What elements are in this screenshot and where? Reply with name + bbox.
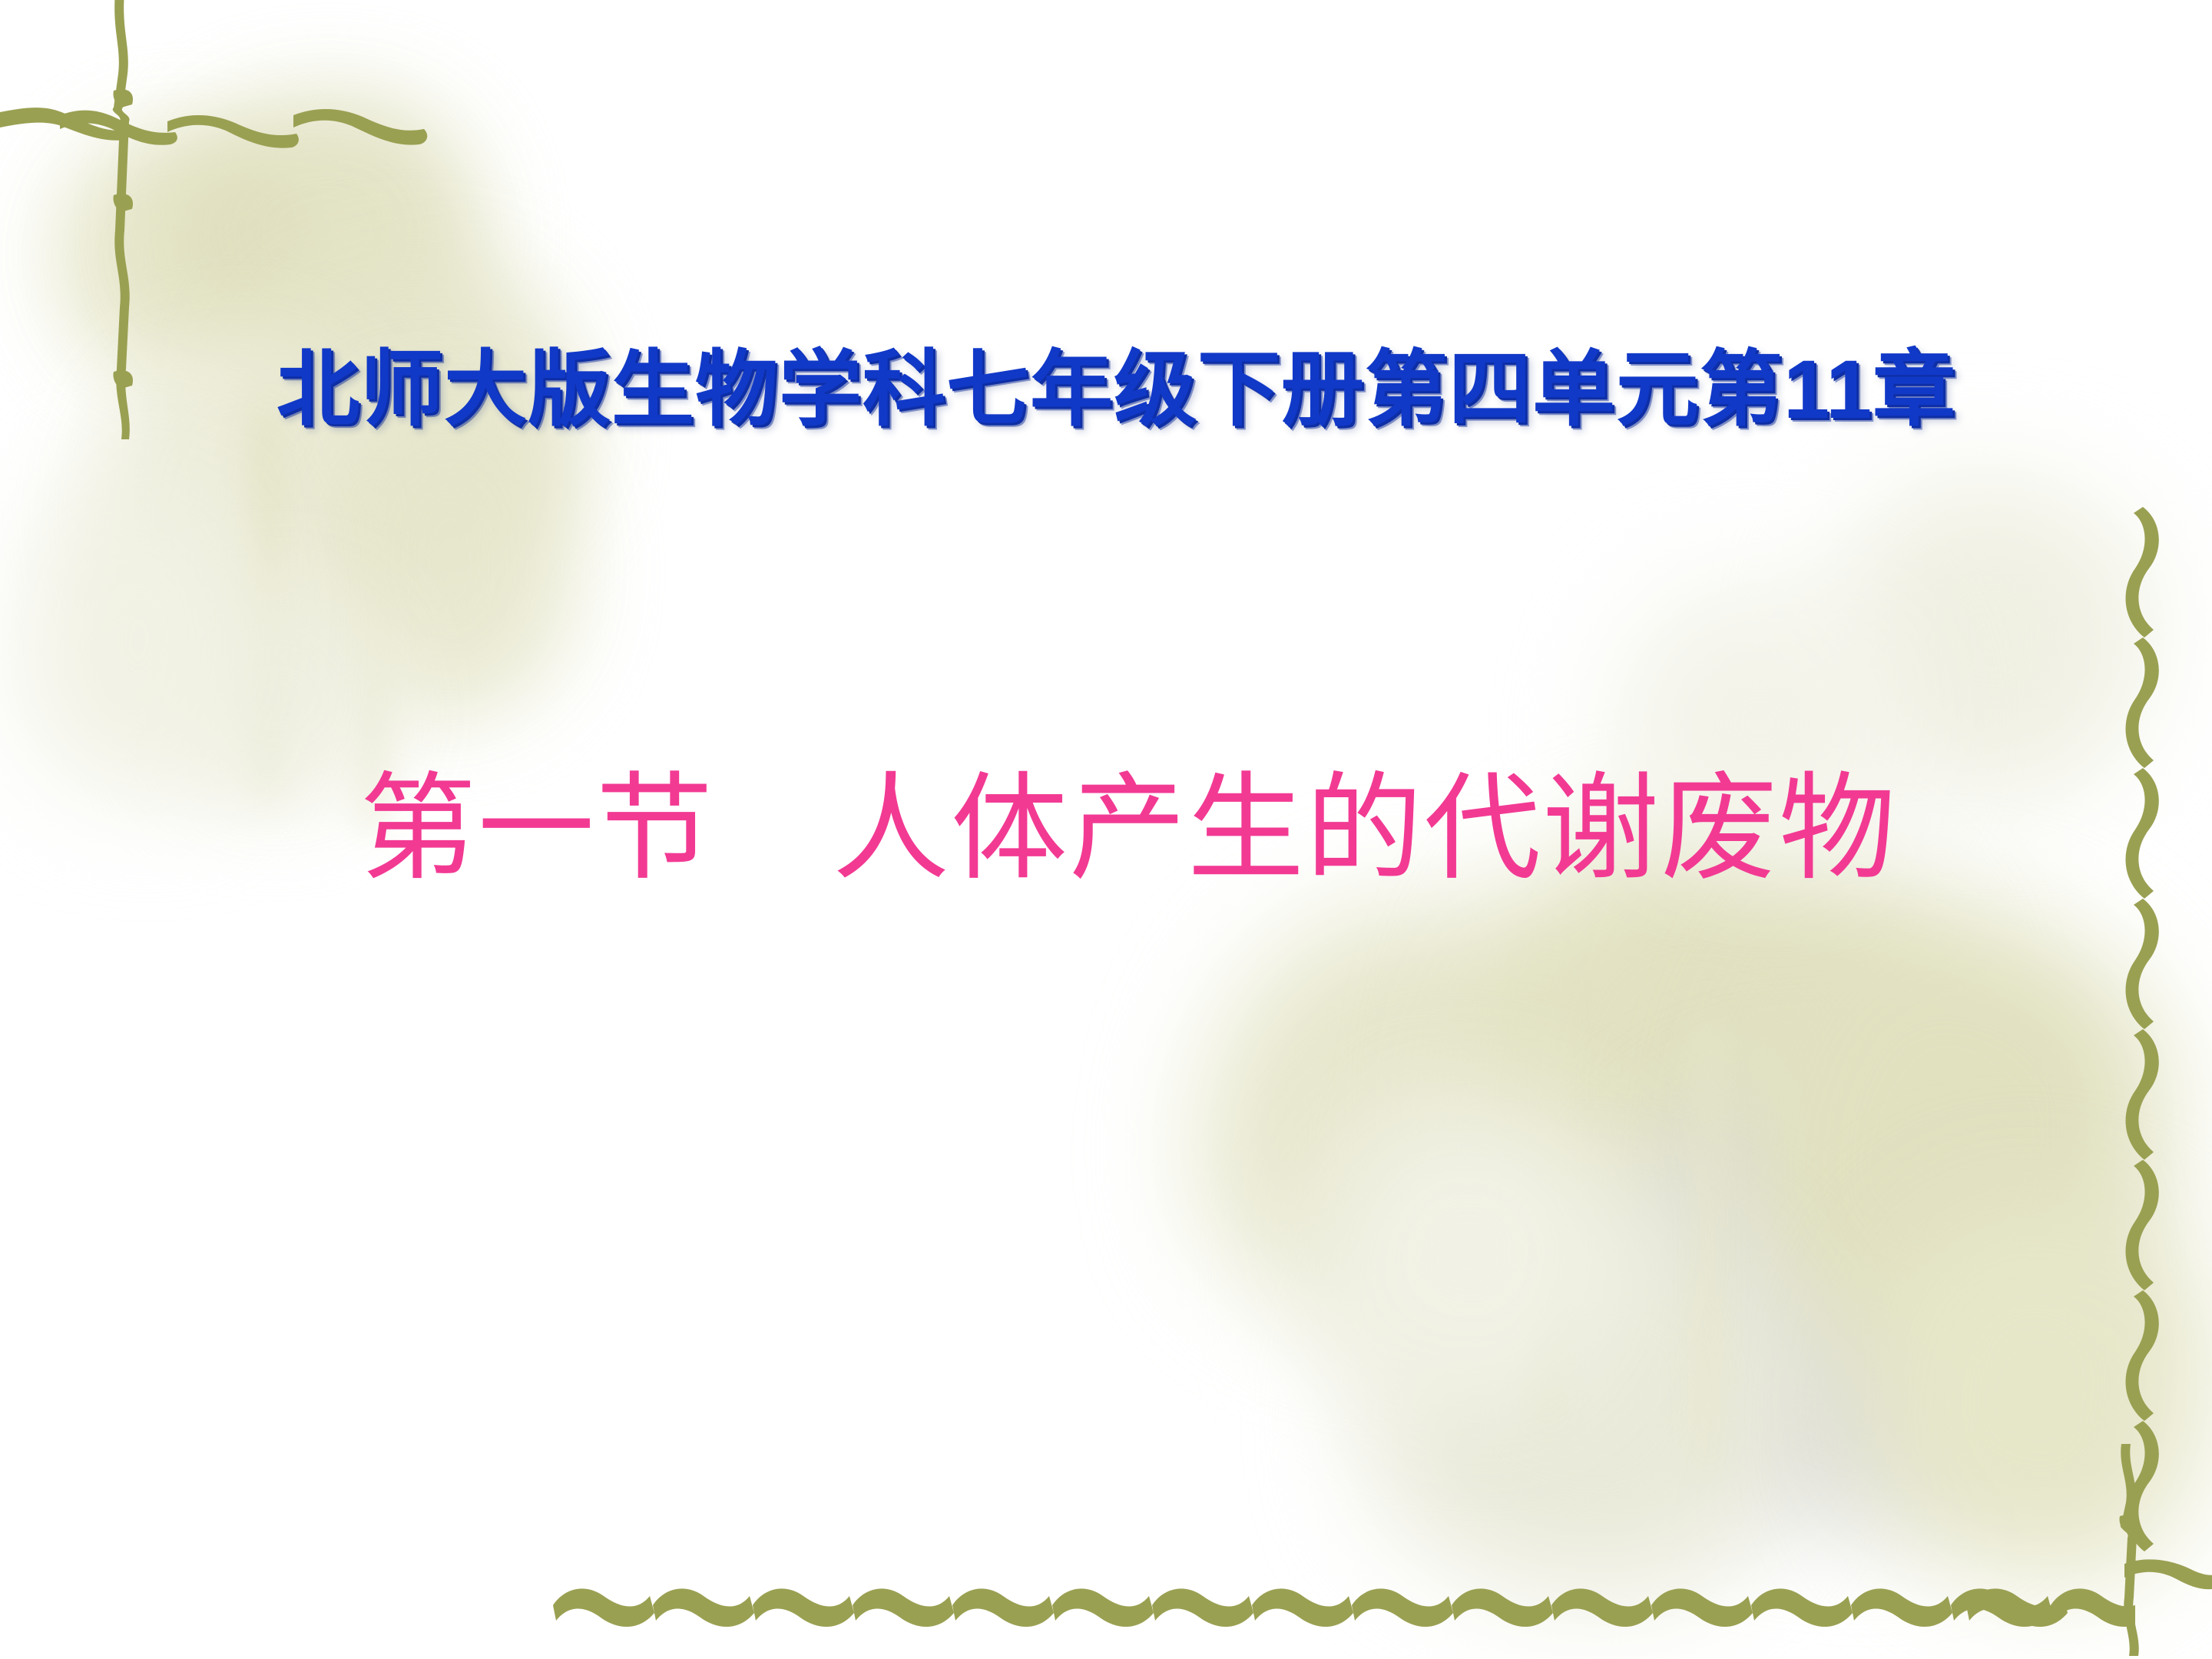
presentation-slide: 北师大版生物学科七年级下册第四单元第11章 第一节 人体产生的代谢废物 (0, 0, 2212, 1659)
slide-title: 北师大版生物学科七年级下册第四单元第11章 (276, 323, 1956, 442)
watermark-blob (54, 131, 307, 384)
watermark-blob (23, 476, 253, 799)
watermark-blob (1367, 1198, 1797, 1598)
bottom-right-cross-stroke (2066, 1444, 2212, 1659)
bottom-wavy-border (553, 1567, 2135, 1651)
watermark-stem (1697, 1014, 1717, 1475)
watermark-stem (253, 399, 280, 799)
watermark-blob (1306, 1091, 1628, 1413)
bottom-border-left-tail (1966, 1567, 2104, 1651)
right-wavy-border (2101, 507, 2194, 1582)
watermark-blob (323, 399, 576, 722)
watermark-blob (1598, 1091, 2074, 1521)
watermark-blob (1198, 906, 1674, 1336)
slide-subtitle: 第一节 人体产生的代谢废物 (359, 733, 1897, 902)
watermark-blob (1736, 906, 2166, 1382)
watermark-stem (1536, 952, 1559, 1429)
watermark-blob (1859, 1198, 2212, 1582)
